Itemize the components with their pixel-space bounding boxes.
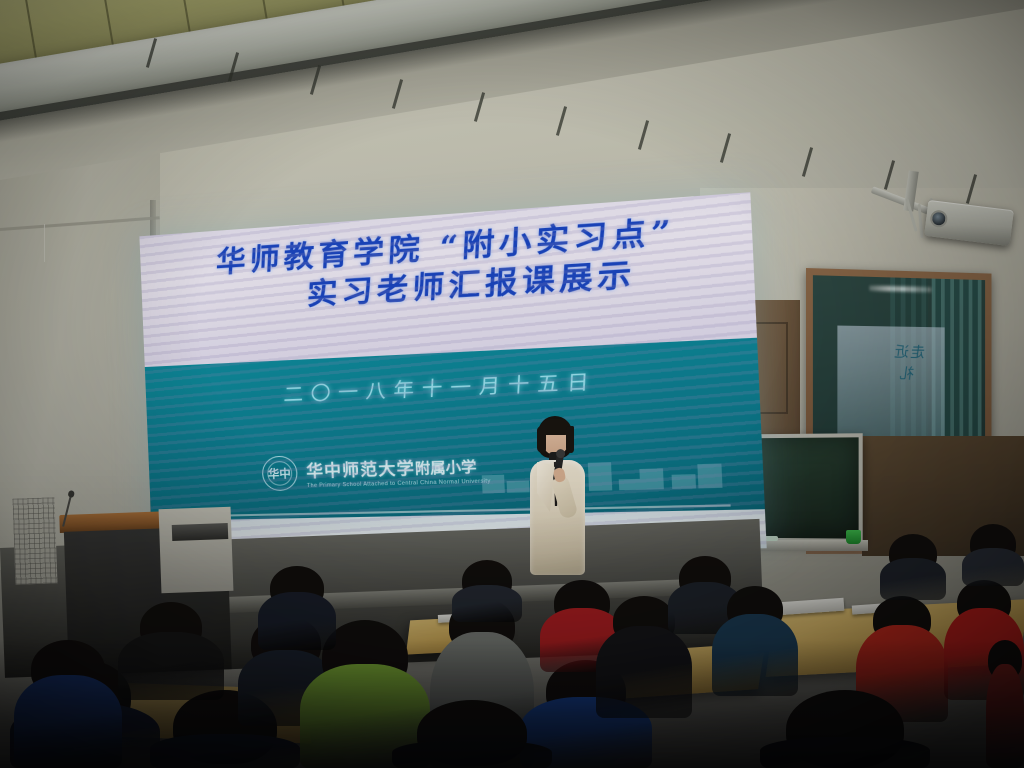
student-jacket <box>962 548 1024 586</box>
student-jacket <box>258 592 336 650</box>
student-far-right-top <box>962 524 1024 586</box>
student-mid-dark <box>258 566 336 650</box>
presenter-hair-side-left <box>537 426 546 453</box>
student-front-center-dark <box>392 700 552 768</box>
student-jacket <box>118 632 224 700</box>
student-left-black <box>118 602 224 700</box>
school-seal-icon: 华中 <box>261 455 298 491</box>
lectern-side-panel <box>159 507 234 593</box>
wall-vent-grille <box>13 497 58 584</box>
student-front-left-blue <box>14 640 122 768</box>
student-back-right-dark <box>880 534 946 600</box>
student-jacket <box>452 585 522 622</box>
student-front-right-dark <box>760 690 930 768</box>
student-jacket <box>712 614 798 696</box>
student-back-center <box>452 560 522 622</box>
projector-lens-icon <box>929 209 948 228</box>
student-jacket <box>880 558 946 600</box>
presenter-hair-side-right <box>566 426 574 453</box>
av-equipment <box>172 523 229 541</box>
student-jacket <box>14 675 122 768</box>
student-jacket <box>760 737 930 768</box>
hanging-wire <box>44 224 45 262</box>
presenting-teacher <box>516 416 600 586</box>
student-jacket <box>596 626 692 718</box>
projection-screen: 华师教育学院 “附小实习点” 实习老师汇报课展示 二〇一八年十一月十五日 华中 … <box>139 192 766 556</box>
student-teal-uniform <box>712 586 798 696</box>
screen-surface: 华师教育学院 “附小实习点” 实习老师汇报课展示 二〇一八年十一月十五日 华中 … <box>139 192 766 556</box>
school-brand-names: 华中师范大学附属小学 The Primary School Attached t… <box>306 451 491 488</box>
student-right-edge <box>986 640 1024 768</box>
classroom-photo-scene: 走近 礼 <box>0 0 1024 768</box>
student-jacket <box>986 664 1024 768</box>
student-jacket <box>392 740 552 768</box>
school-seal-text: 华中 <box>268 467 291 479</box>
school-name-cn: 华中师范大学附属小学 <box>306 451 491 481</box>
student-jacket <box>150 734 300 768</box>
